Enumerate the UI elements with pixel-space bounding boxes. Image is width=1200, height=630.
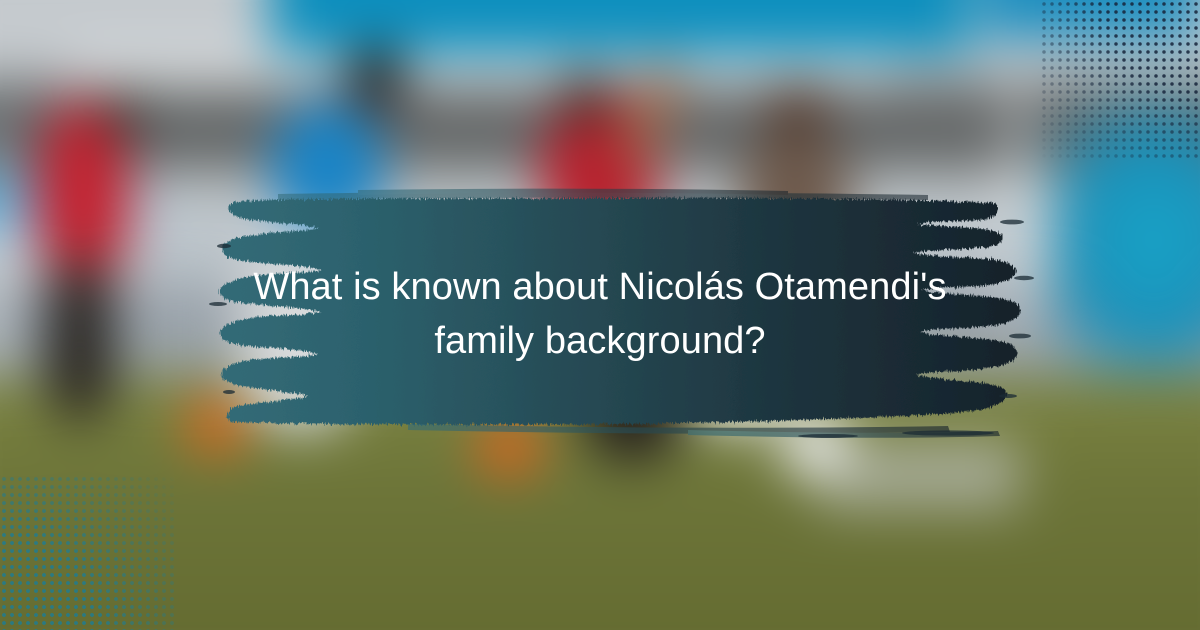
photo-player-red-left-legs <box>45 260 115 420</box>
photo-advertising-board-right <box>980 0 1200 40</box>
question-line-2: family background? <box>434 314 765 368</box>
photo-player-head-3 <box>560 70 612 124</box>
photo-advertising-board <box>270 0 970 55</box>
photo-right-blue-blur <box>1050 90 1200 390</box>
photo-roof-bar <box>70 58 890 84</box>
question-card: What is known about Nicolás Otamendi's f… <box>0 0 1200 630</box>
photo-player-head-4 <box>770 80 826 140</box>
question-text-block: What is known about Nicolás Otamendi's f… <box>250 186 950 441</box>
photo-player-head-1 <box>100 92 142 138</box>
photo-player-head-2 <box>345 48 405 110</box>
question-banner: What is known about Nicolás Otamendi's f… <box>128 186 1048 441</box>
question-line-1: What is known about Nicolás Otamendi's <box>253 260 946 314</box>
photo-pitch-highlight <box>820 440 1020 510</box>
